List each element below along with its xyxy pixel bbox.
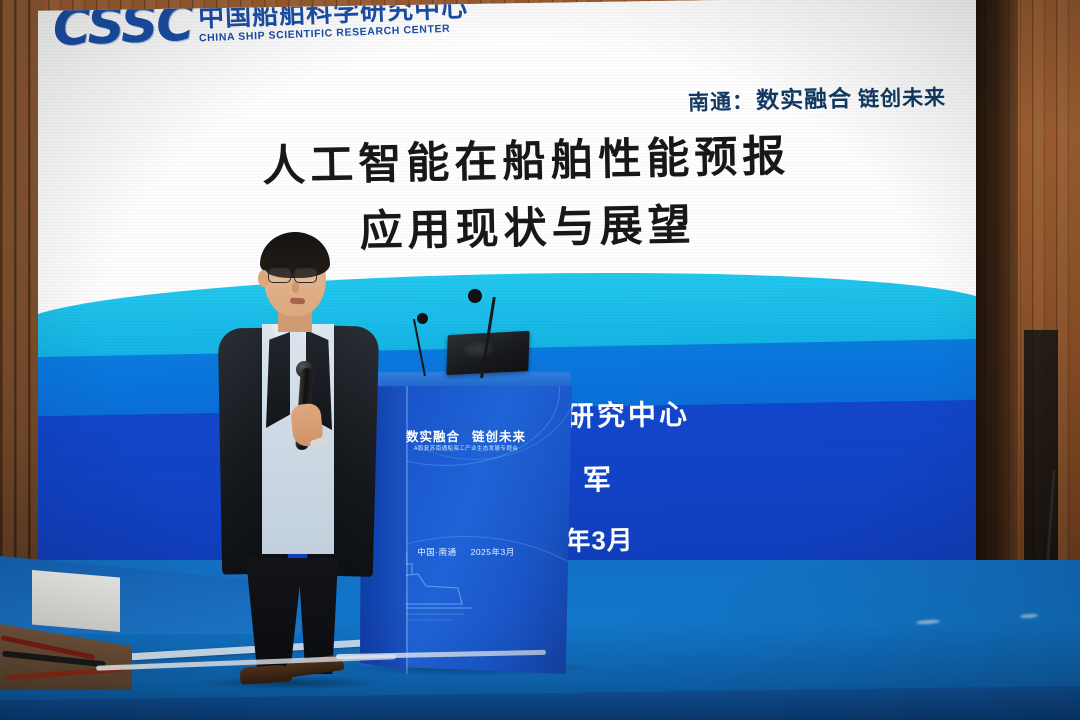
lectern-podium: 数实融合链创未来 A股复苏南通船海工产业生态发展专题会 中国·南通2025年3月 <box>360 372 572 672</box>
podium-slogan-part1: 数实融合 <box>406 430 460 444</box>
slide-title: 人工智能在船舶性能预报 应用现状与展望 <box>38 127 976 267</box>
podium-edge-fold <box>406 386 408 674</box>
mouth <box>290 298 305 305</box>
event-slogan: 南通：数实融合链创未来 <box>688 77 947 116</box>
event-slogan-prefix: 南通： <box>688 90 754 114</box>
speaker-person <box>214 228 382 688</box>
gooseneck-microphone-left-head <box>417 313 428 324</box>
gooseneck-microphone-right-head <box>468 289 482 303</box>
eyebrow-left <box>271 264 288 267</box>
nose <box>292 282 299 293</box>
eyebrow-right <box>296 264 313 267</box>
jacket-lapel-left <box>266 332 290 428</box>
podium-date: 2025年3月 <box>471 547 515 557</box>
event-slogan-part1: 数实融合 <box>756 85 853 113</box>
podium-slogan-part2: 链创未来 <box>472 430 526 444</box>
presentation-photo-scene: CSSC 中国船舶科学研究中心 CHINA SHIP SCIENTIFIC RE… <box>0 0 1080 720</box>
laptop-screen-glare <box>463 341 494 359</box>
eyeglasses-lens-right <box>294 268 317 283</box>
eyeglasses-lens-left <box>268 268 291 283</box>
white-floor-panel <box>32 570 120 632</box>
podium-place: 中国·南通 <box>417 547 456 557</box>
event-slogan-part2: 链创未来 <box>858 86 946 111</box>
eyeglasses-bridge <box>291 274 296 276</box>
